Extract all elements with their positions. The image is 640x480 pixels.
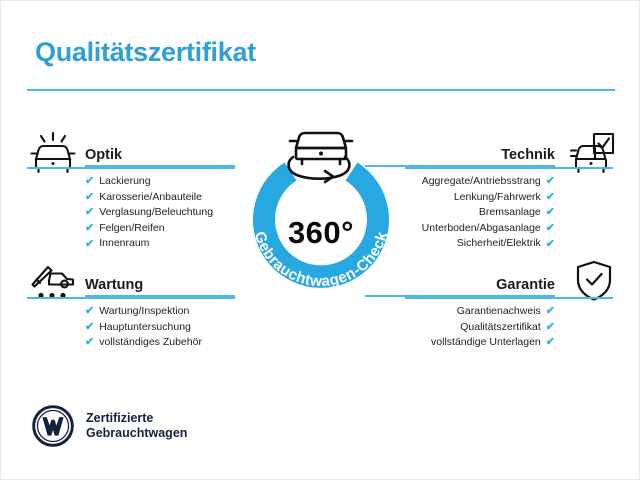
title-divider (27, 89, 615, 91)
list-item-label: Innenraum (99, 236, 149, 252)
car-service-icon (29, 259, 77, 301)
section-wartung-title: Wartung (85, 277, 143, 293)
list-item: ✔Hauptuntersuchung (85, 320, 235, 336)
list-item: ✔Karosserie/Anbauteile (85, 190, 235, 206)
list-item-label: Sicherheit/Elektrik (457, 236, 541, 252)
check-icon: ✔ (85, 223, 94, 234)
list-item-label: Lackierung (99, 174, 150, 190)
section-optik-header: Optik (85, 133, 235, 167)
list-item-label: Unterboden/Abgasanlage (422, 221, 541, 237)
check-icon: ✔ (546, 306, 555, 317)
check-icon: ✔ (546, 192, 555, 203)
check-icon: ✔ (85, 322, 94, 333)
check-icon: ✔ (85, 239, 94, 250)
list-item: Qualitätszertifikat✔ (365, 320, 555, 336)
list-item: ✔Lackierung (85, 174, 235, 190)
list-item: ✔Wartung/Inspektion (85, 304, 235, 320)
section-optik-items: ✔Lackierung ✔Karosserie/Anbauteile ✔Verg… (85, 174, 235, 252)
list-item: ✔Innenraum (85, 236, 235, 252)
vw-logo (32, 405, 74, 447)
section-optik-title: Optik (85, 147, 122, 163)
section-wartung-header: Wartung (85, 263, 235, 297)
list-item-label: Garantienachweis (457, 304, 541, 320)
list-item: ✔Verglasung/Beleuchtung (85, 205, 235, 221)
check-icon: ✔ (546, 239, 555, 250)
section-technik-title: Technik (501, 147, 555, 163)
list-item-label: Verglasung/Beleuchtung (99, 205, 213, 221)
check-icon: ✔ (85, 306, 94, 317)
list-item-label: Bremsanlage (479, 205, 541, 221)
certificate-page: Qualitätszertifikat Optik ✔Lackierung ✔K… (0, 0, 640, 480)
check-icon: ✔ (85, 207, 94, 218)
check-icon: ✔ (546, 223, 555, 234)
list-item-label: Wartung/Inspektion (99, 304, 189, 320)
list-item-label: Felgen/Reifen (99, 221, 164, 237)
check-icon: ✔ (546, 176, 555, 187)
divider-stub-right-upper (405, 167, 613, 169)
check-icon: ✔ (85, 192, 94, 203)
list-item-label: vollständige Unterlagen (431, 335, 541, 351)
list-item-label: Hauptuntersuchung (99, 320, 191, 336)
list-item-label: Lenkung/Fahrwerk (454, 190, 541, 206)
list-item-label: Karosserie/Anbauteile (99, 190, 202, 206)
list-item-label: Qualitätszertifikat (460, 320, 541, 336)
check-icon: ✔ (546, 322, 555, 333)
list-item-label: Aggregate/Antriebsstrang (422, 174, 541, 190)
list-item: vollständige Unterlagen✔ (365, 335, 555, 351)
list-item: ✔vollständiges Zubehör (85, 335, 235, 351)
list-item-label: vollständiges Zubehör (99, 335, 202, 351)
badge-center-label: 360° (224, 215, 418, 251)
footer-text: Zertifizierte Gebrauchtwagen (86, 411, 187, 441)
divider-stub-left-upper (27, 167, 235, 169)
check-icon: ✔ (85, 337, 94, 348)
list-item: ✔Felgen/Reifen (85, 221, 235, 237)
section-optik: Optik ✔Lackierung ✔Karosserie/Anbauteile… (85, 133, 235, 252)
section-wartung: Wartung ✔Wartung/Inspektion ✔Hauptunters… (85, 263, 235, 351)
badge-360-gebrauchtwagen-check: Gebrauchtwagen-Check 360° (224, 121, 418, 315)
check-icon: ✔ (546, 207, 555, 218)
divider-stub-right-lower (405, 297, 613, 299)
footer-line-1: Zertifizierte (86, 411, 187, 426)
section-garantie-title: Garantie (496, 277, 555, 293)
check-icon: ✔ (85, 176, 94, 187)
check-icon: ✔ (546, 337, 555, 348)
divider-stub-left-lower (27, 297, 235, 299)
footer-line-2: Gebrauchtwagen (86, 426, 187, 441)
footer-brand: Zertifizierte Gebrauchtwagen (32, 405, 187, 447)
section-wartung-items: ✔Wartung/Inspektion ✔Hauptuntersuchung ✔… (85, 304, 235, 351)
page-title: Qualitätszertifikat (35, 37, 256, 68)
